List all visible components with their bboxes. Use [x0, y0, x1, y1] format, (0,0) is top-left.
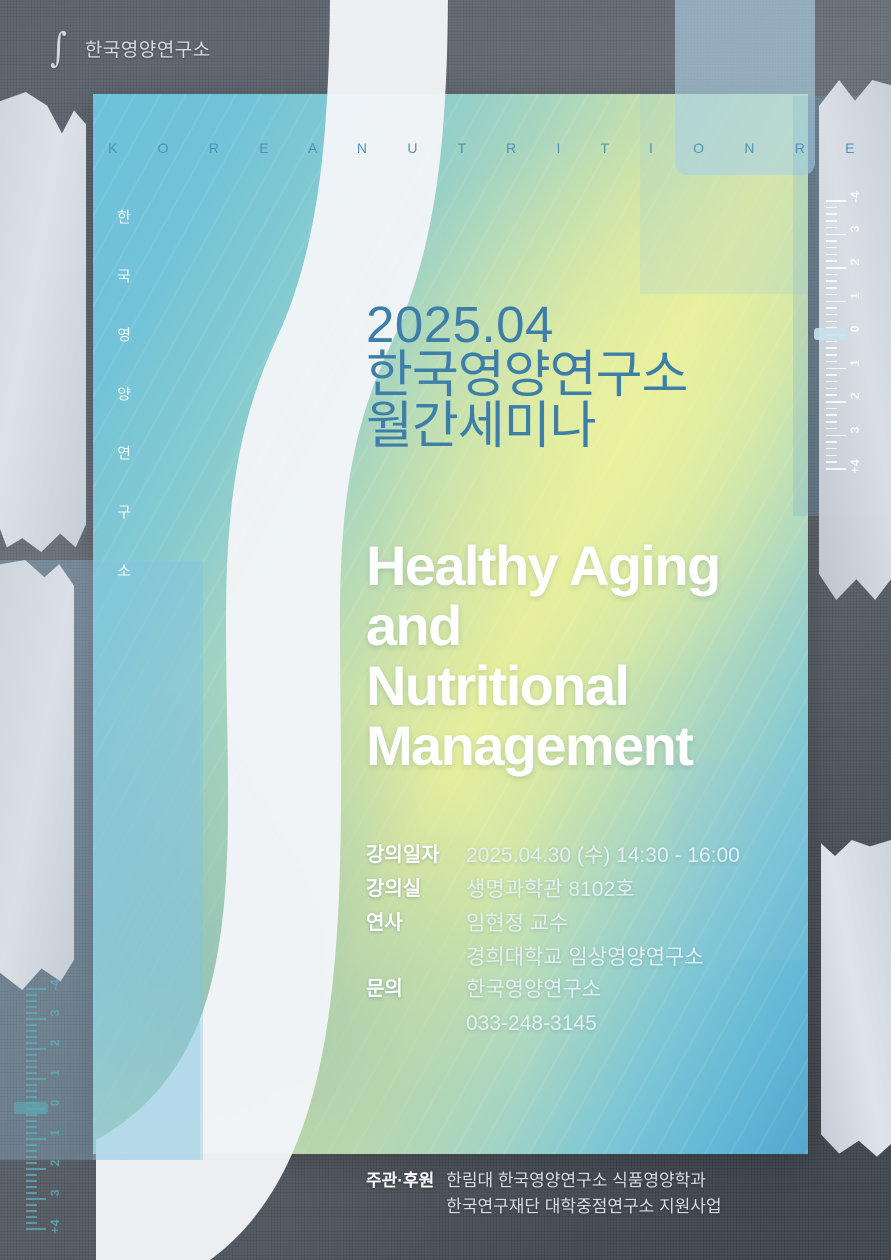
ruler-label: +4: [48, 1219, 62, 1234]
detail-value: 임현정 교수: [466, 908, 568, 940]
detail-label: 문의: [366, 974, 466, 1004]
integral-mark-icon: ∫: [50, 28, 67, 68]
title-line: Healthy Aging: [366, 536, 836, 596]
detail-label: 강의실: [366, 874, 466, 904]
torn-paper-left-top: [0, 92, 86, 552]
footer-values: 한림대 한국영양연구소 식품영양학과 한국연구재단 대학중점연구소 지원사업: [446, 1168, 721, 1219]
detail-row-speaker: 연사 임현정 교수: [366, 908, 816, 940]
vertical-brand-text: 한 국 영 양 연 구 소: [112, 206, 136, 581]
ruler-scale-left: -4 3 2 1 0 1 2 3 +4: [26, 988, 68, 1228]
detail-value: 생명과학관 8102호: [466, 874, 634, 906]
eyebrow-text: K O R E A N U T R I T I O N R E S E A R …: [108, 140, 891, 156]
ruler-numbers: -4 3 2 1 0 1 2 3 +4: [848, 200, 868, 468]
detail-row-date: 강의일자 2025.04.30 (수) 14:30 - 16:00: [366, 840, 816, 872]
ruler-ticks: [826, 200, 848, 468]
detail-label: 연사: [366, 908, 466, 938]
ruler-label: -4: [848, 191, 862, 203]
ruler-ticks: [26, 988, 48, 1228]
vertical-char: 소: [112, 560, 136, 581]
detail-contact-phone: 033-248-3145: [466, 1008, 816, 1040]
vertical-char: 양: [112, 383, 136, 404]
brand-logo: ∫ 한국영양연구소: [48, 28, 211, 68]
ruler-label: 1: [848, 359, 862, 366]
ruler-slider-knob: [14, 1102, 48, 1114]
title-line: Management: [366, 716, 836, 776]
detail-value: 2025.04.30 (수) 14:30 - 16:00: [466, 840, 740, 872]
headline-org: 한국영양연구소: [366, 350, 816, 400]
ruler-label: 2: [848, 258, 862, 265]
headline-event: 월간세미나: [366, 401, 816, 451]
ruler-label: 2: [848, 392, 862, 399]
ruler-label: 1: [48, 1129, 62, 1136]
torn-paper-right-bottom: [821, 840, 891, 1160]
ruler-label: 3: [48, 1189, 62, 1196]
footer-line: 한국연구재단 대학중점연구소 지원사업: [446, 1194, 721, 1220]
ruler-label: +4: [848, 459, 862, 474]
ruler-slider-knob: [814, 328, 848, 340]
ruler-label: 3: [48, 1009, 62, 1016]
detail-row-room: 강의실 생명과학관 8102호: [366, 874, 816, 906]
seminar-details: 강의일자 2025.04.30 (수) 14:30 - 16:00 강의실 생명…: [366, 840, 816, 1039]
vertical-char: 국: [112, 265, 136, 286]
ruler-scale-right: -4 3 2 1 0 1 2 3 +4: [826, 200, 868, 468]
footer-sponsors: 주관·후원 한림대 한국영양연구소 식품영양학과 한국연구재단 대학중점연구소 …: [366, 1168, 722, 1219]
brand-name-label: 한국영양연구소: [85, 35, 211, 62]
detail-label: 강의일자: [366, 840, 466, 870]
detail-value: 한국영양연구소: [466, 974, 601, 1006]
vertical-char: 한: [112, 206, 136, 227]
ruler-label: 1: [48, 1069, 62, 1076]
title-english: Healthy Aging and Nutritional Management: [366, 536, 836, 776]
headline-korean: 2025.04 한국영양연구소 월간세미나: [366, 300, 816, 451]
headline-date: 2025.04: [366, 300, 816, 350]
vertical-char: 영: [112, 324, 136, 345]
detail-speaker-affiliation: 경희대학교 임상영양연구소: [466, 942, 816, 974]
ruler-label: 2: [48, 1039, 62, 1046]
vertical-char: 구: [112, 501, 136, 522]
title-line: Nutritional: [366, 656, 836, 716]
torn-paper-left-bottom: [0, 560, 74, 990]
ruler-label: 0: [848, 325, 862, 332]
title-line: and: [366, 596, 836, 656]
ruler-label: 0: [48, 1099, 62, 1106]
ruler-label: 3: [848, 426, 862, 433]
ruler-label: 2: [48, 1159, 62, 1166]
footer-label: 주관·후원: [366, 1168, 434, 1194]
poster-canvas: ∫ 한국영양연구소 K O R E A N U T R I T I O N R …: [0, 0, 891, 1260]
ruler-numbers: -4 3 2 1 0 1 2 3 +4: [48, 988, 68, 1228]
footer-line: 한림대 한국영양연구소 식품영양학과: [446, 1168, 721, 1194]
ruler-label: 3: [848, 225, 862, 232]
vertical-char: 연: [112, 442, 136, 463]
ruler-label: -4: [48, 979, 62, 991]
ruler-label: 1: [848, 292, 862, 299]
detail-row-contact: 문의 한국영양연구소: [366, 974, 816, 1006]
